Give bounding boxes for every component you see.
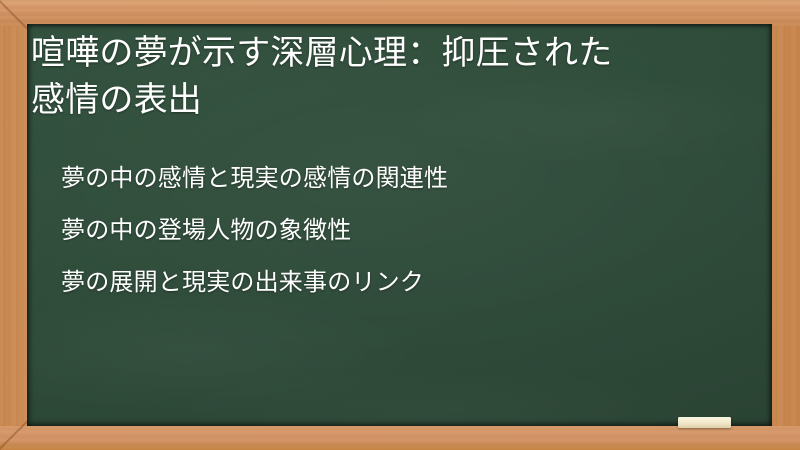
frame-rail-top — [0, 0, 800, 26]
list-item: 夢の中の登場人物の象徴性 — [61, 215, 756, 245]
frame-rail-bottom — [0, 426, 800, 450]
slide-title: 喧嘩の夢が示す深層心理：抑圧された 感情の表出 — [31, 30, 756, 124]
slide-content: 喧嘩の夢が示す深層心理：抑圧された 感情の表出 夢の中の感情と現実の感情の関連性… — [27, 24, 772, 426]
bullet-list: 夢の中の感情と現実の感情の関連性 夢の中の登場人物の象徴性 夢の展開と現実の出来… — [31, 163, 756, 297]
list-item: 夢の中の感情と現実の感情の関連性 — [61, 163, 756, 193]
chalk-stick-icon — [678, 417, 731, 428]
chalkboard-slide: 喧嘩の夢が示す深層心理：抑圧された 感情の表出 夢の中の感情と現実の感情の関連性… — [0, 0, 800, 450]
list-item: 夢の展開と現実の出来事のリンク — [61, 267, 756, 297]
